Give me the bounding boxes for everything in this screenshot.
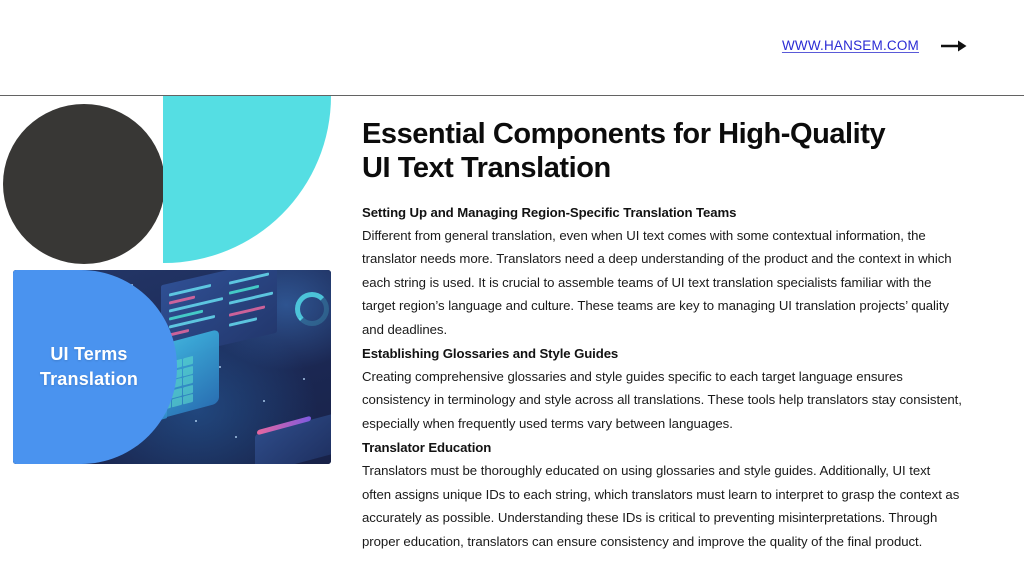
card-title-line-2: Translation bbox=[40, 368, 138, 391]
section-education: Translator Education Translators must be… bbox=[362, 438, 962, 553]
dark-circle-decoration bbox=[3, 104, 165, 264]
section-heading: Translator Education bbox=[362, 438, 962, 458]
section-heading: Establishing Glossaries and Style Guides bbox=[362, 344, 962, 364]
site-url-link[interactable]: WWW.HANSEM.COM bbox=[782, 38, 919, 53]
section-body: Different from general translation, even… bbox=[362, 224, 962, 342]
arrow-right-icon bbox=[941, 39, 967, 53]
section-heading: Setting Up and Managing Region-Specific … bbox=[362, 203, 962, 223]
section-teams: Setting Up and Managing Region-Specific … bbox=[362, 203, 962, 341]
ui-terms-translation-image-card: UI Terms Translation bbox=[13, 270, 331, 464]
header-right-group: WWW.HANSEM.COM bbox=[782, 38, 967, 53]
slide-header: WWW.HANSEM.COM bbox=[0, 0, 1024, 95]
section-glossaries: Establishing Glossaries and Style Guides… bbox=[362, 344, 962, 435]
content-column: Essential Components for High-Quality UI… bbox=[362, 118, 962, 556]
section-body: Translators must be thoroughly educated … bbox=[362, 459, 962, 553]
slide-root: WWW.HANSEM.COM bbox=[0, 0, 1024, 576]
circular-gauge-graphic bbox=[295, 292, 329, 326]
card-title-label: UI Terms Translation bbox=[13, 270, 165, 464]
section-body: Creating comprehensive glossaries and st… bbox=[362, 365, 962, 436]
page-title: Essential Components for High-Quality UI… bbox=[362, 118, 892, 186]
card-title-line-1: UI Terms bbox=[50, 343, 127, 366]
cyan-quarter-circle-decoration bbox=[163, 96, 331, 263]
left-graphics-group: UI Terms Translation bbox=[0, 96, 340, 576]
